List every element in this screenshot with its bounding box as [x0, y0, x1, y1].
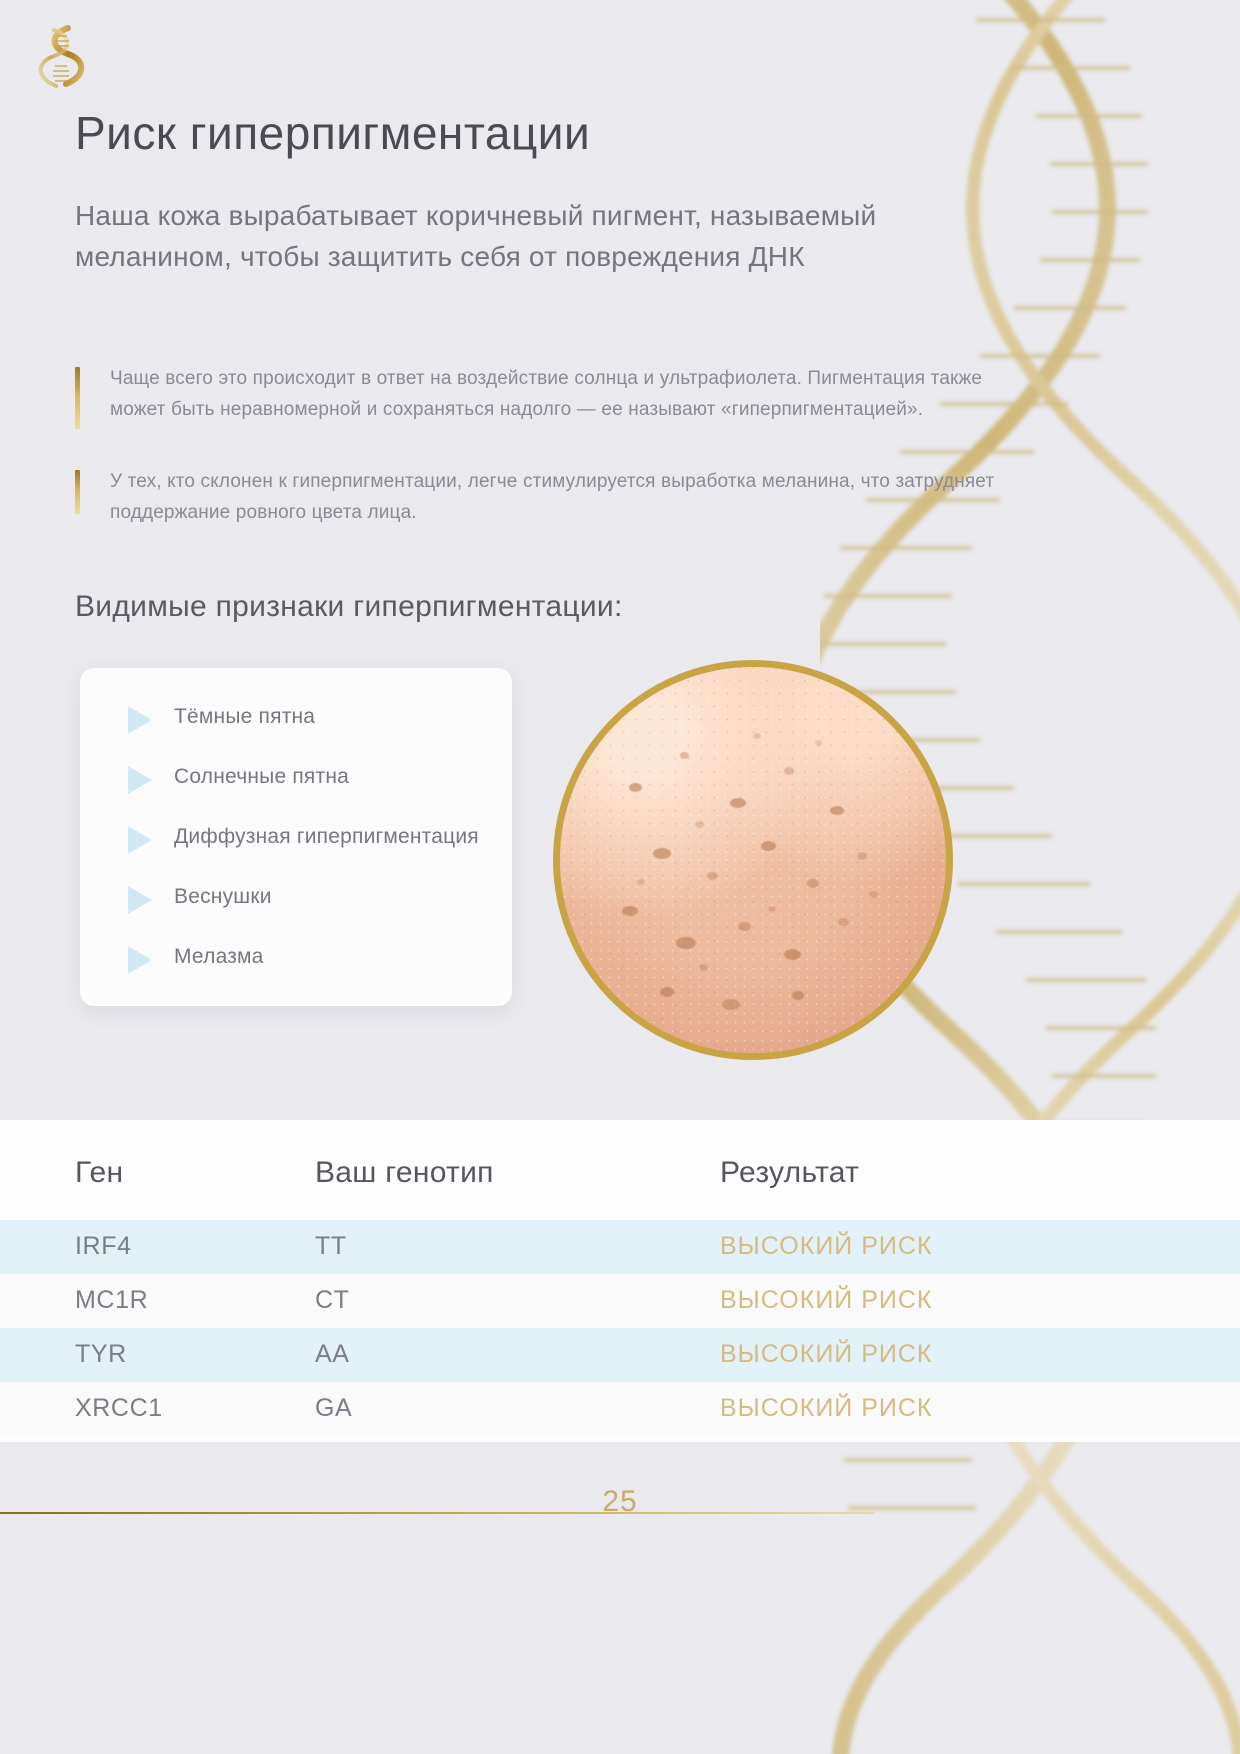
cell-gene: IRF4 — [0, 1220, 315, 1274]
table-row: XRCC1 GA ВЫСОКИЙ РИСК — [0, 1382, 1240, 1436]
callout-item: У тех, кто склонен к гиперпигментации, л… — [75, 466, 1005, 529]
list-item-label: Диффузная гиперпигментация — [174, 822, 479, 852]
cell-genotype: GA — [315, 1382, 720, 1436]
list-item-label: Мелазма — [174, 942, 264, 972]
column-header-result: Результат — [720, 1120, 1240, 1220]
skin-photo-circle — [553, 660, 953, 1060]
cell-genotype: TT — [315, 1220, 720, 1274]
table-header-row: Ген Ваш генотип Результат — [0, 1120, 1240, 1220]
cell-gene: XRCC1 — [0, 1382, 315, 1436]
table-row: TYR AA ВЫСОКИЙ РИСК — [0, 1328, 1240, 1382]
visible-signs-card: Тёмные пятна Солнечные пятна Диффузная г… — [80, 668, 512, 1006]
callout-text: Чаще всего это происходит в ответ на воз… — [110, 363, 1005, 426]
triangle-bullet-icon — [128, 886, 152, 914]
triangle-bullet-icon — [128, 826, 152, 854]
list-item: Веснушки — [108, 882, 484, 914]
status-badge: ВЫСОКИЙ РИСК — [720, 1274, 1240, 1328]
list-item: Солнечные пятна — [108, 762, 484, 794]
column-header-gene: Ген — [0, 1120, 315, 1220]
cell-gene: MC1R — [0, 1274, 315, 1328]
genotype-results-table: Ген Ваш генотип Результат IRF4 TT ВЫСОКИ… — [0, 1120, 1240, 1442]
list-item: Тёмные пятна — [108, 702, 484, 734]
report-page: Риск гиперпигментации Наша кожа вырабаты… — [0, 0, 1240, 1754]
cell-genotype: CT — [315, 1274, 720, 1328]
table-row: IRF4 TT ВЫСОКИЙ РИСК — [0, 1220, 1240, 1274]
gold-accent-bar — [75, 367, 80, 429]
status-badge: ВЫСОКИЙ РИСК — [720, 1220, 1240, 1274]
list-item-label: Тёмные пятна — [174, 702, 315, 732]
column-header-genotype: Ваш генотип — [315, 1120, 720, 1220]
dna-helix-icon — [38, 22, 86, 92]
list-item-label: Веснушки — [174, 882, 272, 912]
pigment-spots — [560, 667, 946, 1053]
signs-section-heading: Видимые признаки гиперпигментации: — [75, 590, 623, 624]
cell-gene: TYR — [0, 1328, 315, 1382]
callout-item: Чаще всего это происходит в ответ на воз… — [75, 363, 1005, 426]
gold-accent-bar — [75, 470, 80, 514]
status-badge: ВЫСОКИЙ РИСК — [720, 1328, 1240, 1382]
triangle-bullet-icon — [128, 766, 152, 794]
triangle-bullet-icon — [128, 706, 152, 734]
cell-genotype: AA — [315, 1328, 720, 1382]
list-item-label: Солнечные пятна — [174, 762, 349, 792]
status-badge: ВЫСОКИЙ РИСК — [720, 1382, 1240, 1436]
callout-text: У тех, кто склонен к гиперпигментации, л… — [110, 466, 1005, 529]
list-item: Диффузная гиперпигментация — [108, 822, 484, 854]
page-number: 25 — [0, 1485, 1240, 1519]
table-row: MC1R CT ВЫСОКИЙ РИСК — [0, 1274, 1240, 1328]
callout-list: Чаще всего это происходит в ответ на воз… — [75, 363, 1005, 568]
page-title: Риск гиперпигментации — [75, 108, 590, 159]
triangle-bullet-icon — [128, 946, 152, 974]
list-item: Мелазма — [108, 942, 484, 974]
page-subtitle: Наша кожа вырабатывает коричневый пигмен… — [75, 196, 975, 277]
